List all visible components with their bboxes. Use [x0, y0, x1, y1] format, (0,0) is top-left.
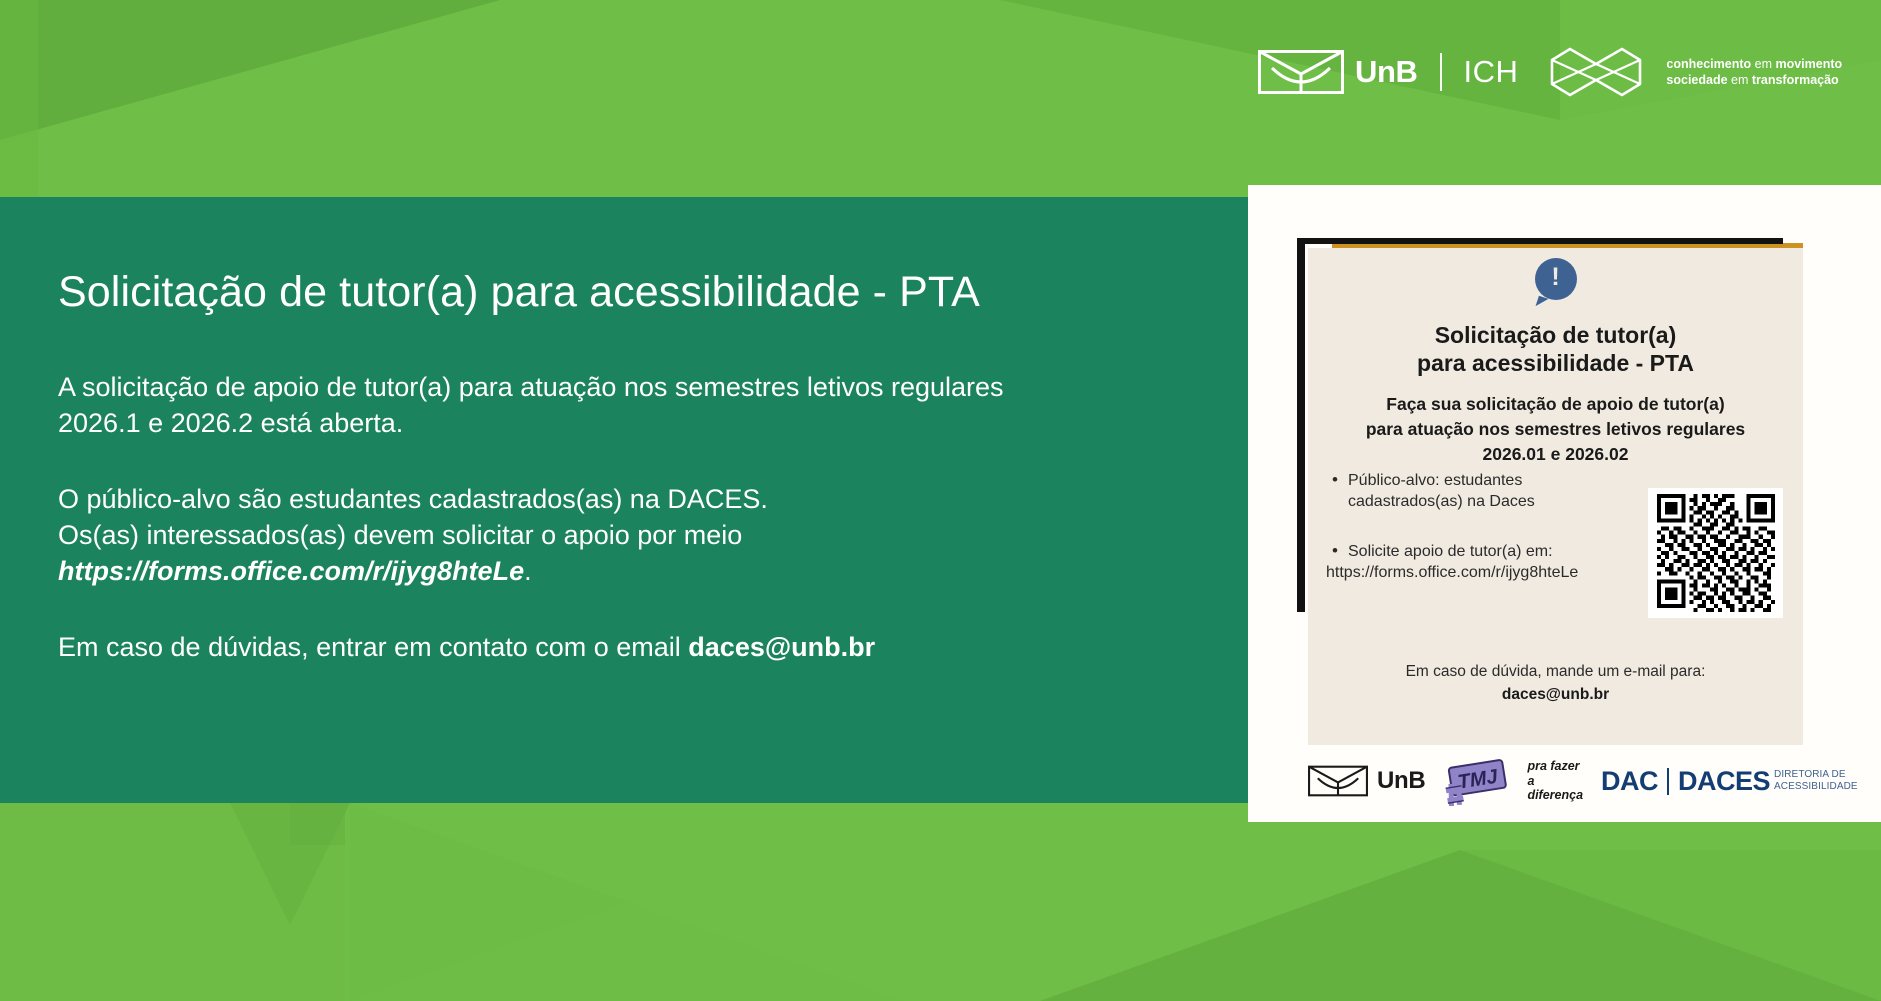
dac-divider — [1667, 768, 1669, 795]
qr-code-icon[interactable] — [1648, 488, 1783, 618]
header-logo-bar: UnB ICH conhecimento em movimento socied… — [1258, 46, 1842, 98]
poster-subtitle-line1: Faça sua solicitação de apoio de tutor(a… — [1308, 392, 1803, 417]
header-ich-label: ICH — [1464, 54, 1519, 90]
paragraph-contact: Em caso de dúvidas, entrar em contato co… — [58, 630, 1238, 666]
dac-label: DAC — [1601, 766, 1658, 797]
daces-subtitle: DIRETORIA DE ACESSIBILIDADE — [1774, 769, 1858, 792]
poster-contact-line: Em caso de dúvida, mande um e-mail para: — [1308, 660, 1803, 683]
url-period: . — [524, 556, 532, 586]
paragraph-contact-prefix: Em caso de dúvidas, entrar em contato co… — [58, 632, 688, 662]
slogan-word-conhecimento: conhecimento — [1666, 57, 1751, 71]
header-unb-label: UnB — [1355, 54, 1418, 90]
header-unb-logo: UnB — [1258, 50, 1418, 94]
poster-title-line1: Solicitação de tutor(a) — [1308, 322, 1803, 350]
banner-stage: UnB ICH conhecimento em movimento socied… — [0, 0, 1881, 1001]
unb-envelope-logo-icon — [1308, 765, 1368, 797]
paragraph-opening-line1: A solicitação de apoio de tutor(a) para … — [58, 372, 1004, 402]
infinity-ribbon-logo-icon — [1548, 46, 1644, 98]
contact-email-link[interactable]: daces@unb.br — [688, 632, 875, 662]
page-title: Solicitação de tutor(a) para acessibilid… — [58, 268, 1238, 316]
header-divider — [1440, 53, 1442, 91]
list-item: Público-alvo: estudantes cadastrados(as)… — [1326, 470, 1594, 513]
forms-url-link[interactable]: https://forms.office.com/r/ijyg8hteLe — [58, 556, 524, 586]
bullet-1-line2: cadastrados(as) na Daces — [1348, 493, 1535, 510]
poster-alert-icon-wrap: ! — [1308, 258, 1803, 305]
list-item: Solicite apoio de tutor(a) em: https://f… — [1326, 541, 1594, 584]
slogan-word-movimento: movimento — [1775, 57, 1842, 71]
exclamation-speech-bubble-icon: ! — [1535, 258, 1577, 300]
poster-logo-strip: UnB TMJ — [1308, 755, 1808, 807]
dac-daces-logo: DAC DACES DIRETORIA DE ACESSIBILIDADE — [1601, 766, 1858, 797]
daces-label: DACES — [1678, 766, 1770, 797]
paragraph-audience: O público-alvo são estudantes cadastrado… — [58, 482, 1238, 590]
slogan-word-transformacao: transformação — [1752, 73, 1839, 87]
paragraph-audience-line2: Os(as) interessados(as) devem solicitar … — [58, 520, 742, 550]
poster-forms-url[interactable]: https://forms.office.com/r/ijyg8hteLe — [1326, 562, 1594, 583]
poster-subtitle-line2: para atuação nos semestres letivos regul… — [1308, 417, 1803, 442]
poster-title: Solicitação de tutor(a) para acessibilid… — [1308, 322, 1803, 377]
slogan-em-2: em — [1728, 73, 1752, 87]
poster-unb-label: UnB — [1377, 767, 1425, 795]
poster-contact-block: Em caso de dúvida, mande um e-mail para:… — [1308, 660, 1803, 707]
paragraph-opening: A solicitação de apoio de tutor(a) para … — [58, 370, 1238, 442]
slogan-word-sociedade: sociedade — [1666, 73, 1727, 87]
exclamation-glyph: ! — [1535, 265, 1577, 290]
poster-subtitle: Faça sua solicitação de apoio de tutor(a… — [1308, 392, 1803, 467]
poster-black-frame — [1297, 238, 1783, 244]
header-slogan: conhecimento em movimento sociedade em t… — [1666, 56, 1842, 89]
tmj-slogan: pra fazer a diferença — [1527, 759, 1583, 802]
bullet-1-line1: Público-alvo: estudantes — [1348, 472, 1522, 489]
poster-black-frame-left — [1297, 238, 1305, 612]
slogan-em-1: em — [1751, 57, 1775, 71]
tmj-slogan-line2: a diferença — [1527, 774, 1583, 803]
poster-unb-logo: UnB — [1308, 765, 1425, 797]
daces-subtitle-line1: DIRETORIA DE — [1774, 769, 1858, 781]
unb-envelope-logo-icon — [1258, 50, 1344, 94]
main-content: Solicitação de tutor(a) para acessibilid… — [58, 268, 1238, 666]
poster-contact-email[interactable]: daces@unb.br — [1308, 683, 1803, 706]
qr-code-matrix — [1657, 494, 1775, 612]
poster-panel: ! Solicitação de tutor(a) para acessibil… — [1308, 248, 1803, 745]
daces-subtitle-line2: ACESSIBILIDADE — [1774, 781, 1858, 793]
poster-title-line2: para acessibilidade - PTA — [1308, 350, 1803, 378]
paragraph-opening-line2: 2026.1 e 2026.2 está aberta. — [58, 408, 403, 438]
poster-subtitle-line3: 2026.01 e 2026.02 — [1308, 442, 1803, 467]
tmj-sticker-glyph: TMJ — [1439, 758, 1513, 806]
bullet-2-line1: Solicite apoio de tutor(a) em: — [1348, 543, 1553, 560]
poster-bullet-list: Público-alvo: estudantes cadastrados(as)… — [1326, 470, 1594, 583]
tmj-slogan-line1: pra fazer — [1527, 759, 1583, 773]
paragraph-audience-line1: O público-alvo são estudantes cadastrado… — [58, 484, 768, 514]
tmj-hashtag-sticker-icon: TMJ — [1439, 758, 1513, 804]
